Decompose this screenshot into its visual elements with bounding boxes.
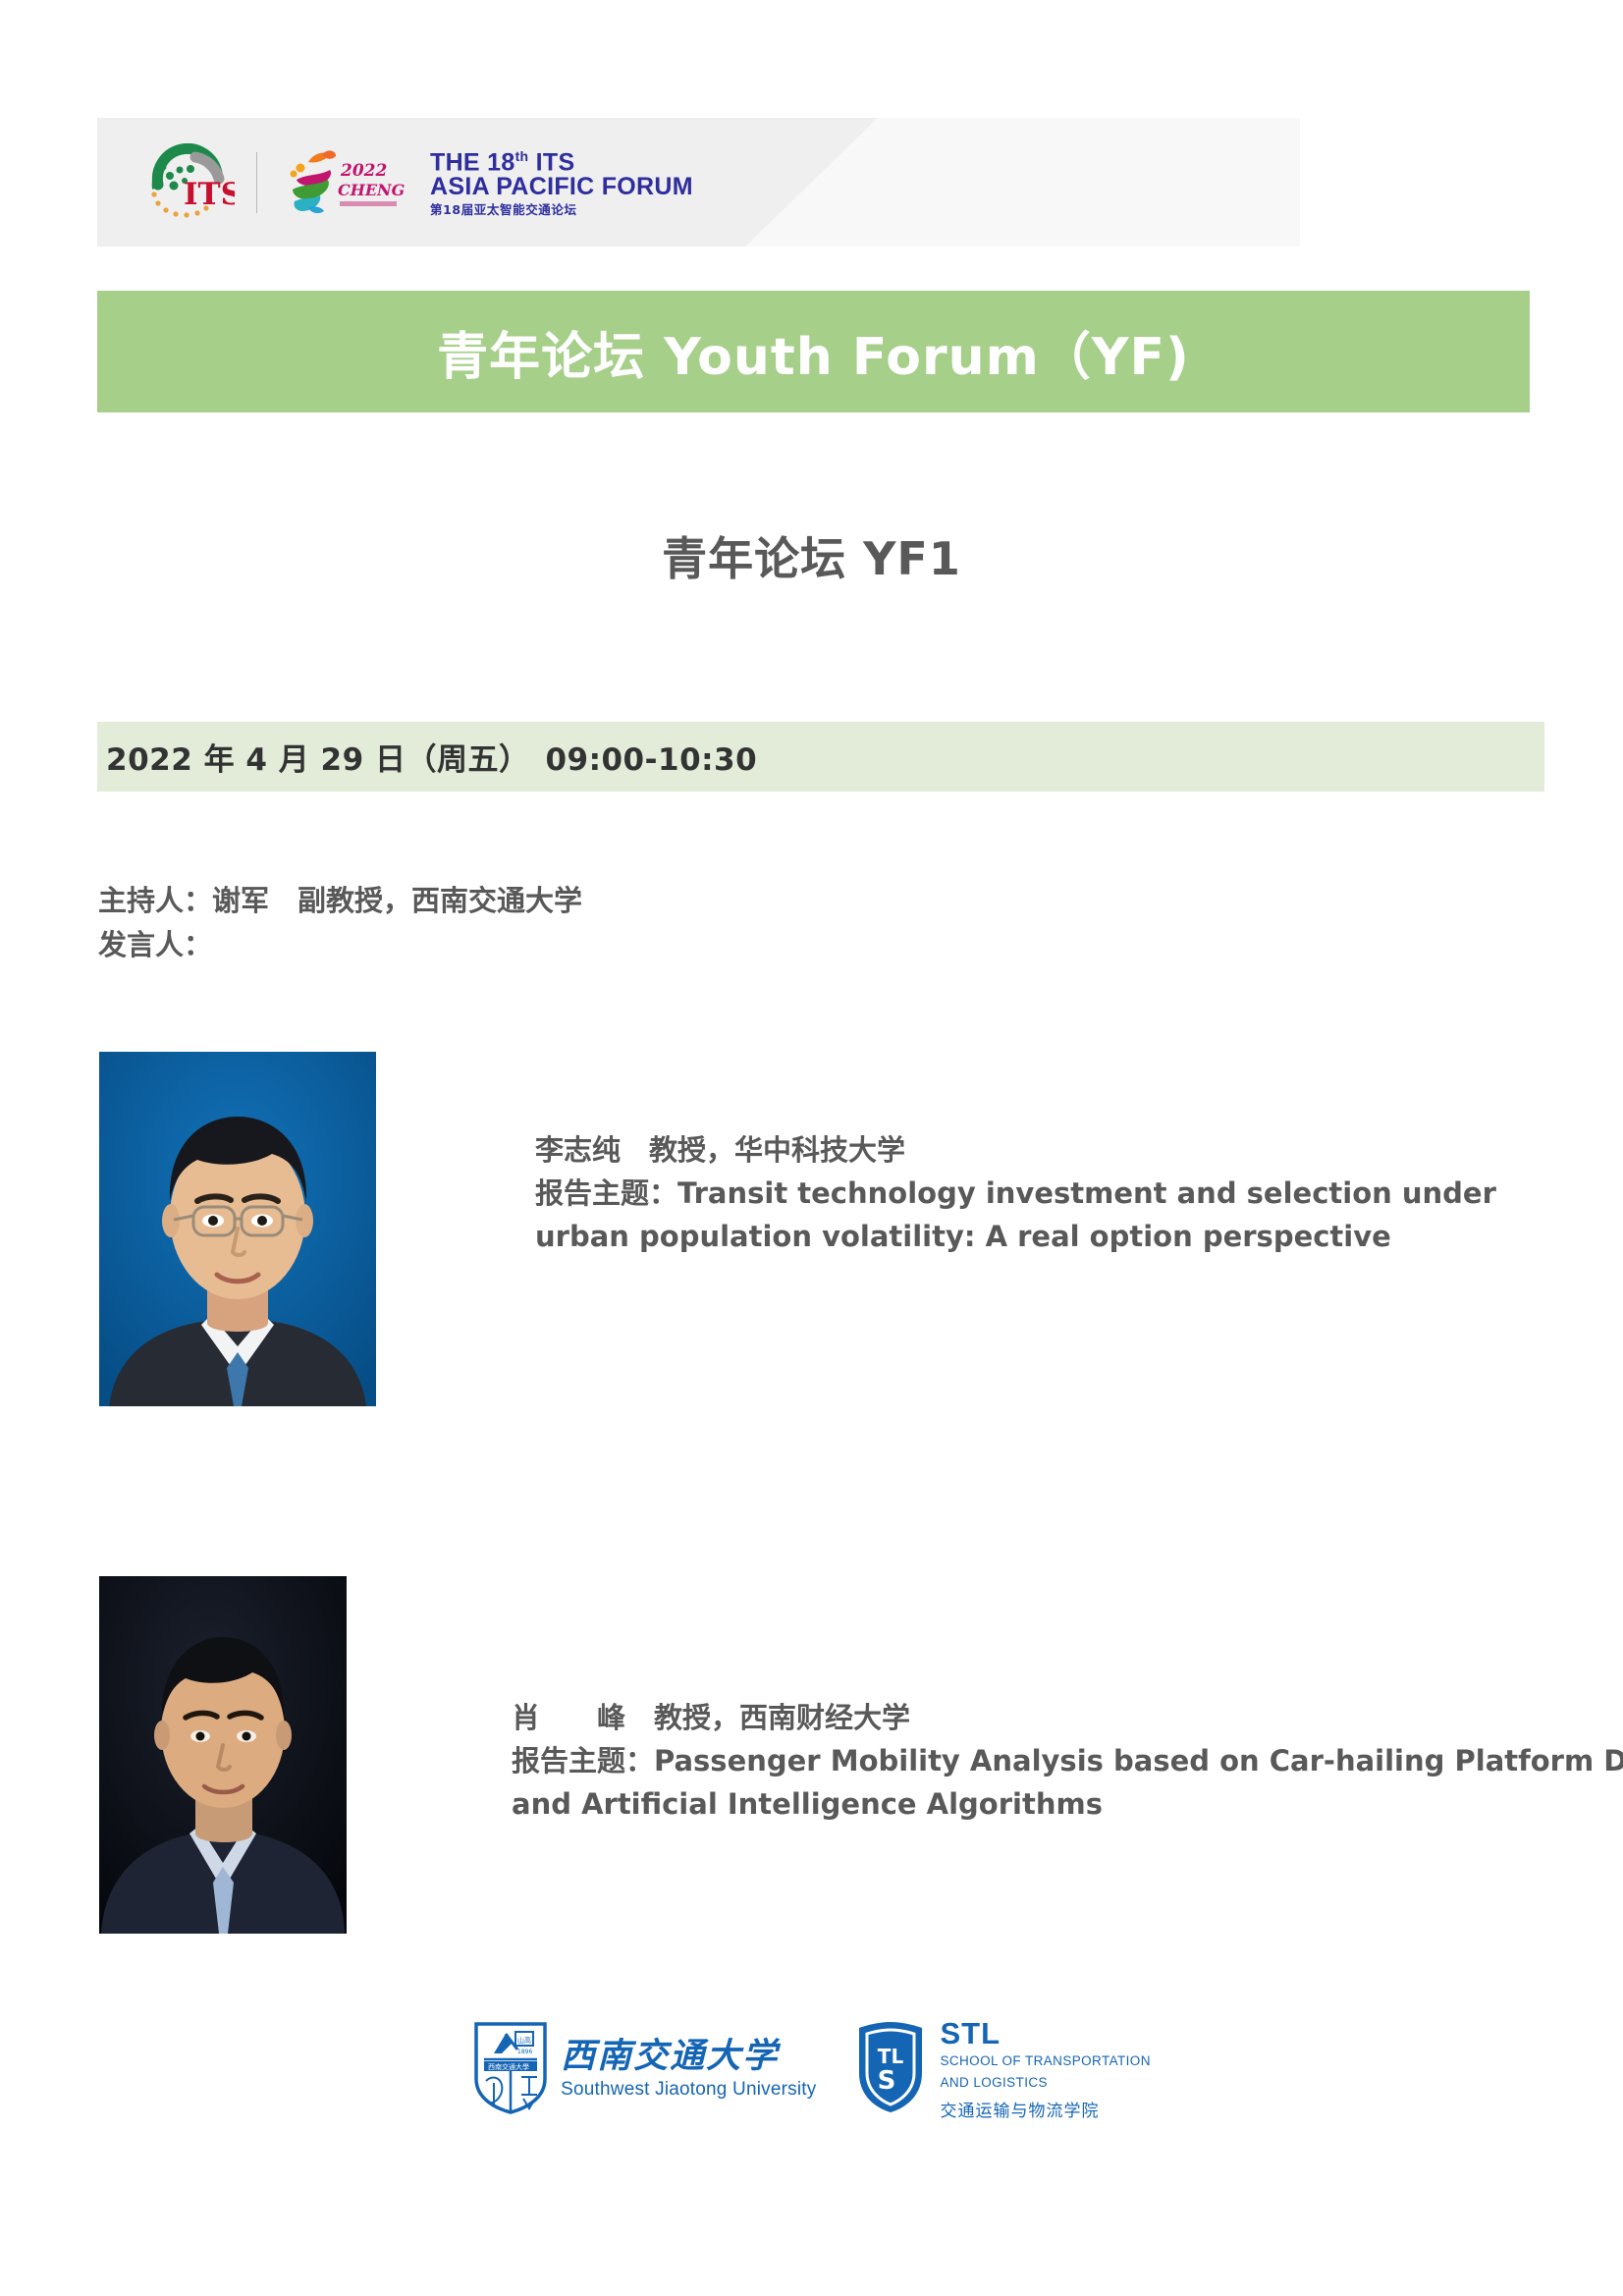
swjtu-name-block: 西南交通大学 Southwest Jiaotong University bbox=[561, 2039, 816, 2101]
swjtu-name-cn: 西南交通大学 bbox=[561, 2039, 816, 2073]
forum-title-banner: 青年论坛 Youth Forum（YF) bbox=[97, 291, 1530, 412]
host-line: 主持人：谢军 副教授，西南交通大学 bbox=[98, 879, 582, 923]
speaker-name: 李志纯 教授，华中科技大学 bbox=[535, 1128, 1527, 1172]
svg-text:山高: 山高 bbox=[517, 2036, 531, 2045]
speaker-info: 肖 峰 教授，西南财经大学 报告主题：Passenger Mobility An… bbox=[512, 1696, 1623, 1826]
session-datetime-bar: 2022 年 4 月 29 日（周五） 09:00-10:30 bbox=[97, 722, 1544, 792]
stl-name-en-line1: SCHOOL OF TRANSPORTATION bbox=[940, 2053, 1150, 2070]
session-subtitle: 青年论坛 YF1 bbox=[0, 523, 1623, 588]
svg-text:TL: TL bbox=[878, 2045, 904, 2068]
svg-text:2022: 2022 bbox=[340, 161, 387, 181]
forum-title-line2: ASIA PACIFIC FORUM bbox=[430, 175, 693, 199]
forum-banner-title: 青年论坛 Youth Forum（YF) bbox=[437, 315, 1190, 389]
header-logo-row: ITS 2022 CHENGDU bbox=[144, 139, 693, 226]
swjtu-logo-block: 山高 1896 西南交通大學 西南交通大学 Southwest Jiaotong… bbox=[472, 2020, 816, 2119]
svg-text:ITS: ITS bbox=[184, 177, 235, 212]
svg-text:1896: 1896 bbox=[517, 2049, 532, 2055]
swjtu-name-en: Southwest Jiaotong University bbox=[561, 2079, 816, 2101]
chengdu-2022-logo: 2022 CHENGDU bbox=[279, 144, 405, 221]
session-datetime-text: 2022 年 4 月 29 日（周五） 09:00-10:30 bbox=[106, 735, 757, 779]
swjtu-shield-logo: 山高 1896 西南交通大學 bbox=[472, 2020, 549, 2119]
forum-title-chinese: 第18届亚太智能交通论坛 bbox=[430, 204, 693, 217]
svg-text:CHENGDU: CHENGDU bbox=[338, 181, 405, 199]
svg-text:S: S bbox=[878, 2066, 896, 2096]
speaker-name: 肖 峰 教授，西南财经大学 bbox=[512, 1696, 1623, 1739]
forum-title-block: THE 18th ITS ASIA PACIFIC FORUM 第18届亚太智能… bbox=[430, 149, 693, 217]
stl-logo-block: TL S STL SCHOOL OF TRANSPORTATION AND LO… bbox=[853, 2018, 1150, 2121]
stl-name-en-line2: AND LOGISTICS bbox=[940, 2075, 1150, 2092]
stl-shield-logo: TL S bbox=[853, 2020, 928, 2119]
speaker-entry: 李志纯 教授，华中科技大学 报告主题：Transit technology in… bbox=[99, 1052, 1527, 1406]
speaker-topic: 报告主题：Transit technology investment and s… bbox=[535, 1172, 1527, 1258]
footer-logo-row: 山高 1896 西南交通大學 西南交通大学 Southwest Jiaotong… bbox=[0, 2018, 1623, 2121]
stl-name-block: STL SCHOOL OF TRANSPORTATION AND LOGISTI… bbox=[940, 2018, 1150, 2121]
speaker-entry: 肖 峰 教授，西南财经大学 报告主题：Passenger Mobility An… bbox=[99, 1576, 1623, 1934]
forum-title-line1: THE 18th ITS bbox=[430, 149, 693, 175]
speaker-topic: 报告主题：Passenger Mobility Analysis based o… bbox=[512, 1739, 1623, 1826]
speakers-label: 发言人： bbox=[98, 923, 582, 967]
speaker-info: 李志纯 教授，华中科技大学 报告主题：Transit technology in… bbox=[535, 1128, 1527, 1258]
session-meta: 主持人：谢军 副教授，西南交通大学 发言人： bbox=[98, 879, 582, 967]
event-header-banner: ITS 2022 CHENGDU bbox=[97, 118, 1300, 246]
its-globe-logo: ITS bbox=[144, 143, 235, 222]
header-logo-divider bbox=[256, 152, 257, 213]
speaker-photo-li-zhichun bbox=[99, 1052, 376, 1406]
stl-abbr: STL bbox=[940, 2018, 1150, 2049]
svg-text:西南交通大學: 西南交通大學 bbox=[488, 2062, 529, 2071]
speaker-photo-xiao-feng bbox=[99, 1576, 347, 1934]
stl-name-cn: 交通运输与物流学院 bbox=[940, 2097, 1150, 2121]
